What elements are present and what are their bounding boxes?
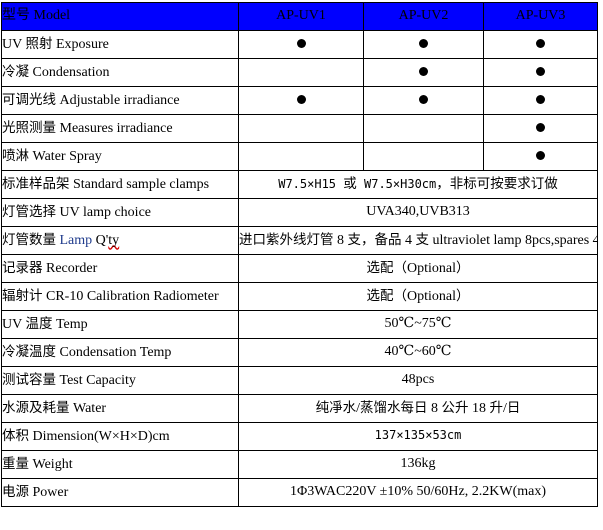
filled-dot-icon bbox=[419, 67, 428, 76]
table-row: 灯管数量 Lamp Q'ty进口紫外线灯管 8 支，备品 4 支 ultravi… bbox=[2, 227, 598, 255]
table-row: UV 温度 Temp50℃~75℃ bbox=[2, 311, 598, 339]
spec-value: 40℃~60℃ bbox=[239, 339, 598, 367]
label-cjk-run: 冷凝 bbox=[2, 64, 29, 80]
spec-value: 选配（Optional） bbox=[239, 255, 598, 283]
value-cjk-run: 支，备品 bbox=[348, 232, 402, 248]
table-header-row: 型号 Model AP-UV1 AP-UV2 AP-UV3 bbox=[2, 3, 598, 31]
value-cjk-run: 选配（ bbox=[367, 260, 408, 276]
feature-mark-filled bbox=[364, 31, 484, 59]
spec-label: 水源及耗量 Water bbox=[2, 395, 239, 423]
label-cjk-run: 辐射计 bbox=[2, 288, 43, 304]
spec-label: 标准样品架 Standard sample clamps bbox=[2, 171, 239, 199]
value-cjk-run: 支 bbox=[416, 232, 430, 248]
feature-mark-filled bbox=[484, 59, 598, 87]
label-cjk-run: 体积 bbox=[2, 428, 29, 444]
header-model-ap-uv2: AP-UV2 bbox=[364, 3, 484, 31]
label-cjk-run: 灯管选择 bbox=[2, 204, 56, 220]
value-cjk-run: 公升 bbox=[442, 400, 469, 416]
feature-mark-filled bbox=[364, 59, 484, 87]
table-row: 喷淋 Water Spray bbox=[2, 143, 598, 171]
feature-mark-filled bbox=[364, 87, 484, 115]
filled-dot-icon bbox=[419, 39, 428, 48]
value-mono: 137×135×53cm bbox=[375, 428, 462, 442]
feature-label: 喷淋 Water Spray bbox=[2, 143, 239, 171]
table-body: 型号 Model AP-UV1 AP-UV2 AP-UV3 UV 照射 Expo… bbox=[2, 3, 598, 507]
spec-label: 电源 Power bbox=[2, 479, 239, 507]
spec-value: W7.5×H15 或 W7.5×H30cm，非标可按要求订做 bbox=[239, 171, 598, 199]
header-model-ap-uv1: AP-UV1 bbox=[239, 3, 364, 31]
value-cjk-run: ） bbox=[456, 288, 470, 304]
filled-dot-icon bbox=[297, 39, 306, 48]
table-row: 可调光线 Adjustable irradiance bbox=[2, 87, 598, 115]
value-cjk-run: 选配（ bbox=[367, 288, 408, 304]
spec-value: 进口紫外线灯管 8 支，备品 4 支 ultraviolet lamp 8pcs… bbox=[239, 227, 598, 255]
table-row: 标准样品架 Standard sample clampsW7.5×H15 或 W… bbox=[2, 171, 598, 199]
spellcheck-underline: ty bbox=[108, 233, 119, 248]
filled-dot-icon bbox=[536, 67, 545, 76]
value-cjk-run: 或 bbox=[343, 176, 357, 192]
feature-label: 冷凝 Condensation bbox=[2, 59, 239, 87]
spec-value: UVA340,UVB313 bbox=[239, 199, 598, 227]
table-row: 冷凝温度 Condensation Temp40℃~60℃ bbox=[2, 339, 598, 367]
table-row: 测试容量 Test Capacity48pcs bbox=[2, 367, 598, 395]
filled-dot-icon bbox=[536, 151, 545, 160]
spec-label: 灯管选择 UV lamp choice bbox=[2, 199, 239, 227]
table-row: 体积 Dimension(W×H×D)cm137×135×53cm bbox=[2, 423, 598, 451]
table-row: 记录器 Recorder选配（Optional） bbox=[2, 255, 598, 283]
label-cjk-run: 电源 bbox=[2, 484, 29, 500]
table-row: 重量 Weight136kg bbox=[2, 451, 598, 479]
label-cjk-run: 标准样品架 bbox=[2, 176, 70, 192]
feature-mark-empty bbox=[364, 143, 484, 171]
filled-dot-icon bbox=[297, 95, 306, 104]
label-cjk-run: 照射 bbox=[25, 36, 52, 52]
spec-value: 纯凈水/蒸馏水每日 8 公升 18 升/日 bbox=[239, 395, 598, 423]
feature-mark-empty bbox=[364, 115, 484, 143]
spec-label: 测试容量 Test Capacity bbox=[2, 367, 239, 395]
feature-label: 光照测量 Measures irradiance bbox=[2, 115, 239, 143]
header-model-ap-uv3: AP-UV3 bbox=[484, 3, 598, 31]
value-cjk-run: ） bbox=[456, 260, 470, 276]
value-cjk-run: 升 bbox=[490, 400, 504, 416]
table-row: UV 照射 Exposure bbox=[2, 31, 598, 59]
feature-mark-filled bbox=[484, 31, 598, 59]
feature-mark-empty bbox=[239, 143, 364, 171]
spec-label: 体积 Dimension(W×H×D)cm bbox=[2, 423, 239, 451]
spec-value: 选配（Optional） bbox=[239, 283, 598, 311]
label-cjk-run: 喷淋 bbox=[2, 148, 29, 164]
label-cjk-run: 记录器 bbox=[2, 260, 43, 276]
filled-dot-icon bbox=[536, 95, 545, 104]
spec-value: 48pcs bbox=[239, 367, 598, 395]
feature-mark-filled bbox=[484, 115, 598, 143]
label-cjk-run: 可调光线 bbox=[2, 92, 56, 108]
feature-mark-empty bbox=[239, 115, 364, 143]
filled-dot-icon bbox=[419, 95, 428, 104]
value-cjk-run: 蒸馏水每日 bbox=[360, 400, 428, 416]
label-cjk-run: 温度 bbox=[25, 316, 52, 332]
table-row: 辐射计 CR-10 Calibration Radiometer选配（Optio… bbox=[2, 283, 598, 311]
spec-label: UV 温度 Temp bbox=[2, 311, 239, 339]
spec-value: 1Φ3WAC220V ±10% 50/60Hz, 2.2KW(max) bbox=[239, 479, 598, 507]
spec-value: 50℃~75℃ bbox=[239, 311, 598, 339]
table-row: 水源及耗量 Water纯凈水/蒸馏水每日 8 公升 18 升/日 bbox=[2, 395, 598, 423]
filled-dot-icon bbox=[536, 123, 545, 132]
spec-label: 记录器 Recorder bbox=[2, 255, 239, 283]
feature-label: 可调光线 Adjustable irradiance bbox=[2, 87, 239, 115]
feature-mark-filled bbox=[239, 31, 364, 59]
spec-label: 重量 Weight bbox=[2, 451, 239, 479]
table-row: 电源 Power1Φ3WAC220V ±10% 50/60Hz, 2.2KW(m… bbox=[2, 479, 598, 507]
feature-mark-empty bbox=[239, 59, 364, 87]
label-cjk-run: 光照测量 bbox=[2, 120, 56, 136]
label-cjk-run: 测试容量 bbox=[2, 372, 56, 388]
value-cjk-run: 进口紫外线灯管 bbox=[239, 232, 334, 248]
label-cjk-run: 水源及耗量 bbox=[2, 400, 70, 416]
table-row: 灯管选择 UV lamp choiceUVA340,UVB313 bbox=[2, 199, 598, 227]
header-label-model: 型号 Model bbox=[2, 3, 239, 31]
value-cjk-run: 纯凈水 bbox=[316, 400, 357, 416]
label-cjk-run: 灯管数量 bbox=[2, 232, 56, 248]
feature-label: UV 照射 Exposure bbox=[2, 31, 239, 59]
value-cjk-run: ，非标可按要求订做 bbox=[436, 176, 558, 192]
value-cjk-run: 日 bbox=[507, 400, 521, 416]
value-mono: W7.5×H15 或 W7.5×H30cm，非标可按要求订做 bbox=[278, 177, 558, 191]
table-row: 冷凝 Condensation bbox=[2, 59, 598, 87]
spec-label: 辐射计 CR-10 Calibration Radiometer bbox=[2, 283, 239, 311]
specification-table: 型号 Model AP-UV1 AP-UV2 AP-UV3 UV 照射 Expo… bbox=[1, 2, 598, 507]
label-cjk-run: 冷凝温度 bbox=[2, 344, 56, 360]
filled-dot-icon bbox=[536, 39, 545, 48]
feature-mark-filled bbox=[239, 87, 364, 115]
spec-value: 137×135×53cm bbox=[239, 423, 598, 451]
feature-mark-filled bbox=[484, 87, 598, 115]
table-row: 光照测量 Measures irradiance bbox=[2, 115, 598, 143]
feature-mark-filled bbox=[484, 143, 598, 171]
spec-label: 冷凝温度 Condensation Temp bbox=[2, 339, 239, 367]
spec-label: 灯管数量 Lamp Q'ty bbox=[2, 227, 239, 255]
spec-value: 136kg bbox=[239, 451, 598, 479]
label-cjk-run: 重量 bbox=[2, 456, 29, 472]
blue-word: Lamp bbox=[60, 233, 93, 248]
